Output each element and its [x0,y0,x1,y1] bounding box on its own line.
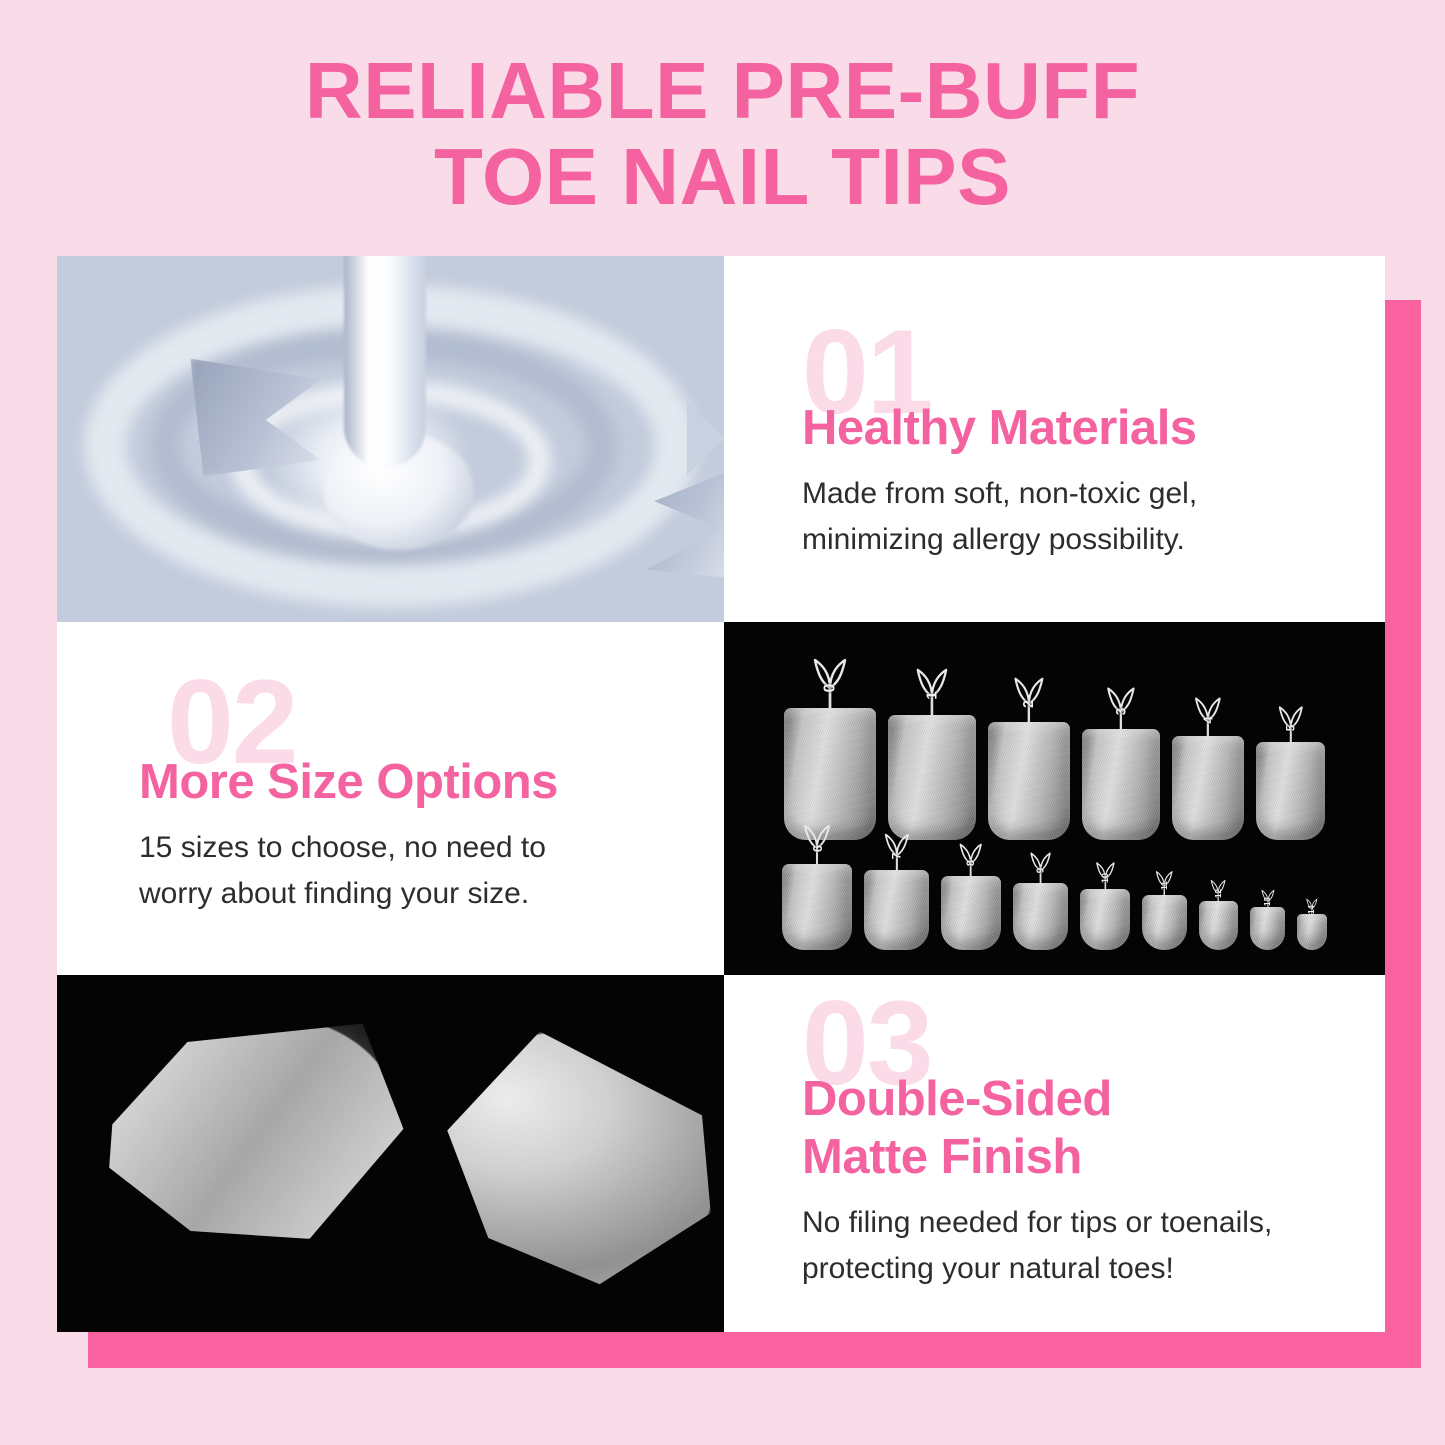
butterfly-tab-icon: 1 [913,667,951,718]
nail-tip-size-label: 11 [1160,881,1169,890]
butterfly-tab-icon: 4 [1192,696,1224,739]
feature-01-desc-line-1: Made from soft, non-toxic gel, [802,471,1337,517]
feature-03-title-line-1: Double-Sided [802,1070,1337,1128]
nail-tip-size-label: 0 [821,683,839,692]
size-chart-row-top: 012345 [738,652,1371,840]
nail-tip-size-5: 5 [1256,705,1324,840]
feature-03-title-line-2: Matte Finish [802,1128,1337,1186]
nail-tip-body [1250,907,1285,950]
nail-tip-body [988,722,1070,840]
butterfly-tab-icon: 8 [957,842,984,880]
butterfly-tab-icon: 11 [1154,870,1175,898]
matte-photo-cell [57,975,724,1332]
nail-tip-size-2: 2 [988,676,1070,840]
feature-03-title: Double-Sided Matte Finish [802,1070,1337,1186]
butterfly-tab-icon: 7 [882,832,912,873]
nail-tip-size-label: 7 [890,852,904,859]
nail-tip-body [888,715,975,840]
feature-02-panel: 02 More Size Options 15 sizes to choose,… [57,622,724,975]
nail-tip-size-label: 10 [1100,873,1110,883]
nail-tip-size-label: 3 [1113,708,1128,716]
nail-tip-body [1199,901,1239,950]
nail-tip-size-label: 1 [923,691,940,699]
butterfly-tab-icon: 0 [810,657,850,711]
size-chart-cell: 012345 67891011121314 [724,622,1385,975]
nail-tip-size-1: 1 [888,667,975,840]
size-chart-photo: 012345 67891011121314 [724,622,1385,975]
nail-tip-size-label: 8 [965,860,977,866]
feature-03-description: No filing needed for tips or toenails, p… [802,1200,1337,1292]
nail-tip-body [864,870,929,950]
feature-01-desc-line-2: minimizing allergy possibility. [802,517,1337,563]
accent-bar-bottom [88,1332,1421,1368]
feature-01-cell: 01 Healthy Materials Made from soft, non… [724,256,1385,622]
butterfly-tab-icon: 2 [1011,676,1047,724]
nail-tip-size-label: 6 [810,845,825,852]
matte-texture-a [78,988,422,1278]
nail-tip-body [1142,895,1187,950]
matte-tip-inner [423,1015,724,1303]
nail-tip-size-label: 5 [1284,725,1298,732]
feature-02-cell: 02 More Size Options 15 sizes to choose,… [57,622,724,975]
nail-tip-size-8: 8 [941,842,1001,950]
feature-03-panel: 03 Double-Sided Matte Finish No filing n… [724,975,1385,1332]
nail-tip-size-9: 9 [1013,851,1068,950]
nail-tip-body [1082,729,1160,840]
feature-01-panel: 01 Healthy Materials Made from soft, non… [724,256,1385,622]
nail-tip-size-label: 12 [1214,889,1223,898]
feature-02-title: More Size Options [139,753,558,811]
feature-grid: 01 Healthy Materials Made from soft, non… [57,256,1385,1332]
nail-tip-size-13: 13 [1250,889,1285,950]
feature-02-desc-line-1: 15 sizes to choose, no need to [139,825,546,871]
page-title-line-1: RELIABLE PRE-BUFF [0,48,1445,134]
nail-tip-size-12: 12 [1199,879,1239,950]
nail-tip-body [784,708,876,840]
butterfly-tab-icon: 10 [1094,861,1117,892]
nail-tip-size-4: 4 [1172,696,1245,840]
feature-03-cell: 03 Double-Sided Matte Finish No filing n… [724,975,1385,1332]
nail-tip-body [1080,889,1130,950]
butterfly-tab-icon: 9 [1028,851,1053,886]
feature-03-desc-line-1: No filing needed for tips or toenails, [802,1200,1337,1246]
feature-01-title: Healthy Materials [802,399,1337,457]
matte-tips-photo [57,975,724,1332]
nail-tip-size-6: 6 [782,823,852,950]
nail-tip-size-7: 7 [864,832,929,950]
feature-03-desc-line-2: protecting your natural toes! [802,1246,1337,1292]
nail-tip-size-3: 3 [1082,686,1160,840]
gel-stream [344,256,426,468]
size-chart-row-bottom: 67891011121314 [738,838,1371,950]
nail-tip-size-11: 11 [1142,870,1187,950]
nail-tip-size-label: 9 [1035,868,1046,874]
matte-tip-outer [78,988,422,1278]
page-title-line-2: TOE NAIL TIPS [0,134,1445,220]
nail-tip-body [1172,736,1245,841]
feature-02-desc-line-2: worry about finding your size. [139,871,546,917]
feature-01-description: Made from soft, non-toxic gel, minimizin… [802,471,1337,563]
butterfly-tab-icon: 6 [801,823,833,867]
pointer-arrow-01 [687,403,724,475]
nail-tip-size-10: 10 [1080,861,1130,950]
nail-tip-body [941,876,1001,950]
butterfly-tab-icon: 5 [1276,705,1306,745]
nail-tip-body [1256,742,1324,840]
gel-photo-cell [57,256,724,622]
nail-tip-size-14: 14 [1297,898,1327,950]
nail-tip-body [782,864,852,950]
nail-tip-body [1297,914,1327,951]
nail-tip-size-0: 0 [784,657,876,840]
page-title: RELIABLE PRE-BUFF TOE NAIL TIPS [0,48,1445,220]
accent-bar-right [1385,300,1421,1368]
gel-pour-photo [57,256,724,622]
nail-tip-size-label: 13 [1263,897,1272,906]
butterfly-tab-icon: 3 [1104,686,1138,732]
matte-texture-b [423,1015,724,1303]
nail-tip-size-label: 4 [1201,716,1215,723]
nail-tip-body [1013,883,1068,950]
feature-02-description: 15 sizes to choose, no need to worry abo… [139,825,546,917]
nail-tip-size-label: 2 [1021,700,1037,708]
